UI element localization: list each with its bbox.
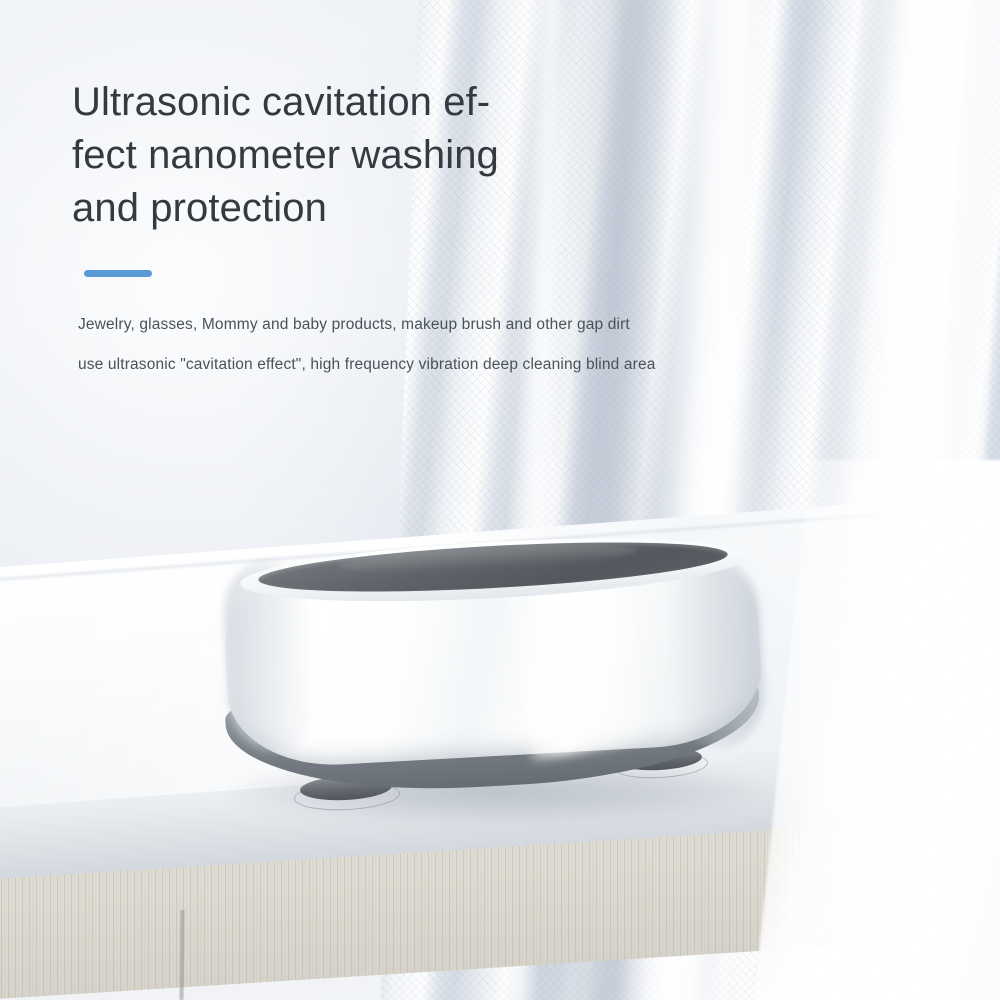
- product-banner: Ultrasonic cavitation ef- fect nanometer…: [0, 0, 1000, 1000]
- product-body-shade-right: [665, 556, 767, 751]
- copy-block: Ultrasonic cavitation ef- fect nanometer…: [0, 0, 1000, 400]
- ultrasonic-cleaner-product: [218, 536, 770, 836]
- page-title: Ultrasonic cavitation ef- fect nanometer…: [72, 76, 632, 235]
- subtext-line-2: use ultrasonic "cavitation effect", high…: [78, 356, 656, 374]
- subtext-line-1: Jewelry, glasses, Mommy and baby product…: [78, 316, 630, 334]
- accent-divider: [84, 270, 152, 277]
